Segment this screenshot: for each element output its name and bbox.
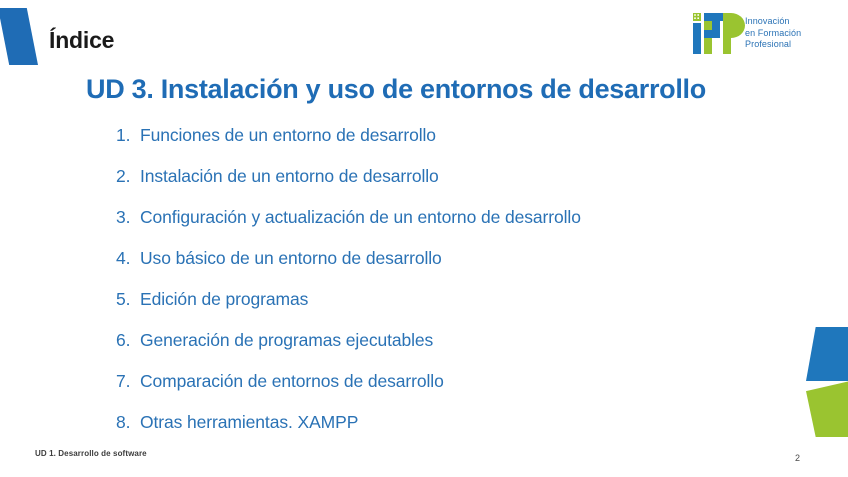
unit-title: UD 3. Instalación y uso de entornos de d… xyxy=(86,74,706,105)
list-item[interactable]: 5. Edición de programas xyxy=(116,288,776,329)
list-item-label: Uso básico de un entorno de desarrollo xyxy=(140,247,442,269)
list-item-label: Instalación de un entorno de desarrollo xyxy=(140,165,439,187)
list-item[interactable]: 1. Funciones de un entorno de desarrollo xyxy=(116,124,776,165)
list-item-number: 4. xyxy=(116,247,140,269)
ifp-logomark-icon xyxy=(689,12,747,58)
list-item-number: 1. xyxy=(116,124,140,146)
list-item-number: 2. xyxy=(116,165,140,187)
footer-label: UD 1. Desarrollo de software xyxy=(35,449,147,458)
list-item-label: Otras herramientas. XAMPP xyxy=(140,411,358,433)
logo-tagline-line-3: Profesional xyxy=(745,39,801,51)
list-item[interactable]: 6. Generación de programas ejecutables xyxy=(116,329,776,370)
list-item-number: 5. xyxy=(116,288,140,310)
list-item[interactable]: 3. Configuración y actualización de un e… xyxy=(116,206,776,247)
index-list: 1. Funciones de un entorno de desarrollo… xyxy=(116,124,776,452)
ifp-logo: Innovación en Formación Profesional xyxy=(689,12,841,58)
list-item[interactable]: 4. Uso básico de un entorno de desarroll… xyxy=(116,247,776,288)
list-item-label: Edición de programas xyxy=(140,288,308,310)
list-item[interactable]: 2. Instalación de un entorno de desarrol… xyxy=(116,165,776,206)
list-item-number: 3. xyxy=(116,206,140,228)
list-item[interactable]: 7. Comparación de entornos de desarrollo xyxy=(116,370,776,411)
list-item[interactable]: 8. Otras herramientas. XAMPP xyxy=(116,411,776,452)
list-item-label: Comparación de entornos de desarrollo xyxy=(140,370,444,392)
decorative-parallelogram-green xyxy=(806,381,848,437)
page-title: Índice xyxy=(49,29,114,52)
list-item-label: Generación de programas ejecutables xyxy=(140,329,433,351)
list-item-label: Funciones de un entorno de desarrollo xyxy=(140,124,436,146)
page-number: 2 xyxy=(795,453,800,463)
list-item-label: Configuración y actualización de un ento… xyxy=(140,206,581,228)
decorative-parallelogram-blue xyxy=(806,327,848,381)
logo-tagline-line-2: en Formación xyxy=(745,28,801,40)
list-item-number: 6. xyxy=(116,329,140,351)
decorative-parallelogram-top-left xyxy=(0,8,38,65)
logo-tagline: Innovación en Formación Profesional xyxy=(745,16,801,51)
list-item-number: 7. xyxy=(116,370,140,392)
slide-canvas: Índice UD 3. Instalación y uso de entorn… xyxy=(0,0,848,477)
list-item-number: 8. xyxy=(116,411,140,433)
logo-tagline-line-1: Innovación xyxy=(745,16,801,28)
